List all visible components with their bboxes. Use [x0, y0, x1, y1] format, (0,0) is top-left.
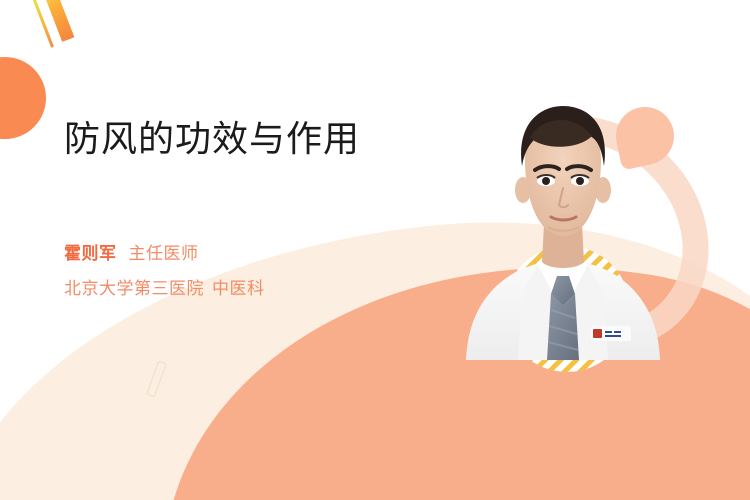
diagonal-stripe-icon [40, 0, 74, 42]
doctor-affiliation-line: 北京大学第三医院中医科 [64, 272, 464, 307]
doctor-photo [452, 98, 674, 360]
doctor-portrait [452, 98, 674, 360]
slash-outline-icon [146, 361, 167, 398]
page-title: 防风的功效与作用 [64, 116, 464, 161]
orange-circle-icon [0, 57, 46, 139]
doctor-name: 霍则军 [64, 244, 117, 263]
doctor-identity-line: 霍则军主任医师 [64, 237, 464, 272]
doctor-hospital: 北京大学第三医院 [64, 279, 204, 298]
doctor-title: 主任医师 [129, 244, 199, 263]
doctor-article-cover: 防风的功效与作用 霍则军主任医师 北京大学第三医院中医科 [0, 0, 750, 500]
cover-text-block: 防风的功效与作用 霍则军主任医师 北京大学第三医院中医科 [64, 116, 464, 307]
doctor-meta: 霍则军主任医师 北京大学第三医院中医科 [64, 237, 464, 307]
diagonal-stripe-thin-icon [29, 0, 54, 48]
doctor-department: 中医科 [212, 279, 265, 298]
